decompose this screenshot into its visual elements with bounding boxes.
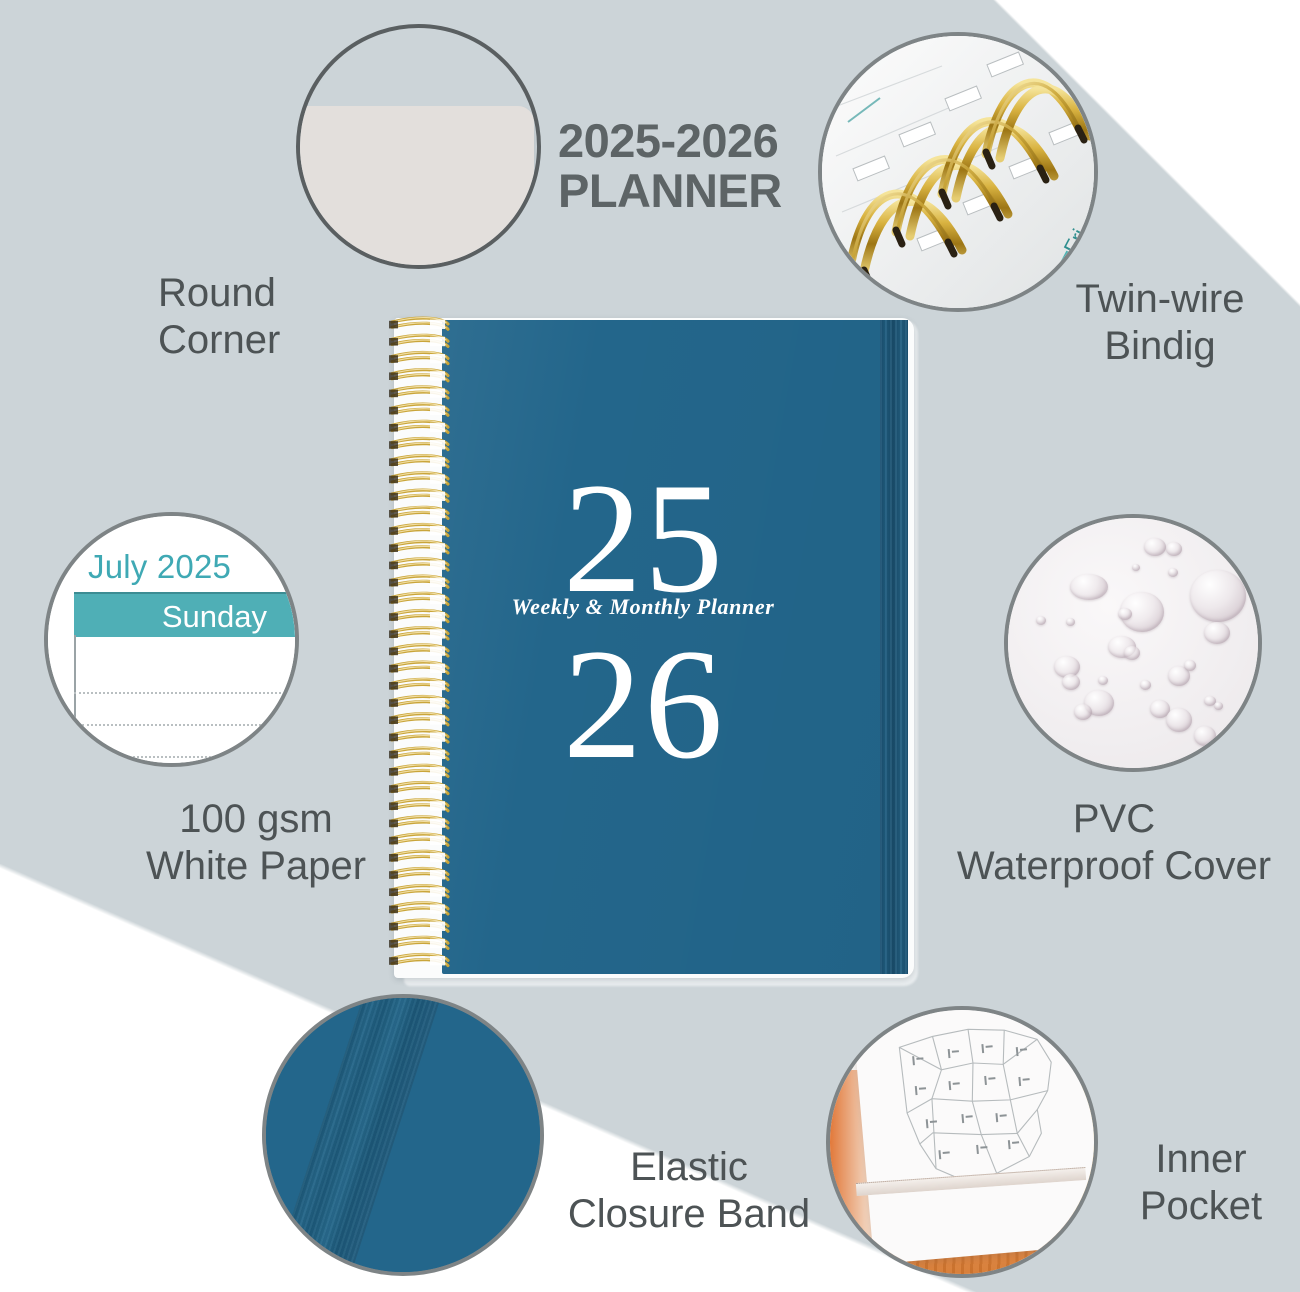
feature-label-pvc: PVC Waterproof Cover [928,796,1300,890]
twin-wire-binding-closeup: Fri 27 [818,32,1098,312]
planner-product-image: 25 Weekly & Monthly Planner 26 [386,314,914,980]
water-droplet [1144,538,1166,556]
calendar-ruled-line [118,756,255,758]
calendar-page-closeup: July 2025 Sunday [44,512,299,767]
water-droplet [1074,704,1092,720]
feature-label-pocket: Inner Pocket [1096,1136,1300,1230]
page-title-line2: PLANNER [558,166,858,216]
infographic-canvas: 2025-2026 PLANNER [0,0,1300,1292]
water-droplet [1140,680,1151,690]
water-droplet [1066,618,1075,626]
inner-pocket-closeup: V [826,1006,1098,1278]
pocket-map-page [851,1006,1098,1264]
water-droplet [1190,570,1246,622]
cover-elastic-band [880,320,908,974]
water-droplet [1070,574,1108,600]
rounded-corner-card [296,106,534,269]
water-droplet [1166,708,1192,732]
feature-label-paper: 100 gsm White Paper [106,796,406,890]
water-droplet [1194,726,1216,746]
calendar-ruled-line [74,692,299,694]
feature-label-elastic: Elastic Closure Band [534,1144,844,1238]
water-droplet [1124,646,1140,660]
water-droplet [1132,564,1140,571]
planner-front-cover: 25 Weekly & Monthly Planner 26 [442,320,906,974]
calendar-month-label: July 2025 [88,548,231,586]
feature-label-twin-wire: Twin-wire Bindig [1040,276,1280,370]
water-droplet [1118,608,1132,620]
cover-year-bottom: 26 [442,626,846,784]
water-droplet [1062,674,1080,690]
calendar-vertical-rule [74,635,76,719]
page-title: 2025-2026 PLANNER [558,116,858,216]
water-droplet [1036,616,1046,625]
page-title-line1: 2025-2026 [558,114,778,167]
round-corner-closeup [296,24,541,269]
calendar-ruled-line [82,724,299,726]
water-droplet [1098,676,1108,685]
feature-label-round-corner: Round Corner [158,270,418,364]
calendar-day-header-label: Sunday [162,599,267,635]
water-droplet [1214,702,1223,710]
water-droplet [1168,568,1178,577]
calendar-day-header-band: Sunday [74,592,299,637]
water-droplet [1184,660,1196,671]
elastic-band-closeup [262,994,544,1276]
water-droplets-closeup [1004,514,1262,772]
water-droplet [1166,542,1182,556]
water-droplet [1204,622,1230,644]
